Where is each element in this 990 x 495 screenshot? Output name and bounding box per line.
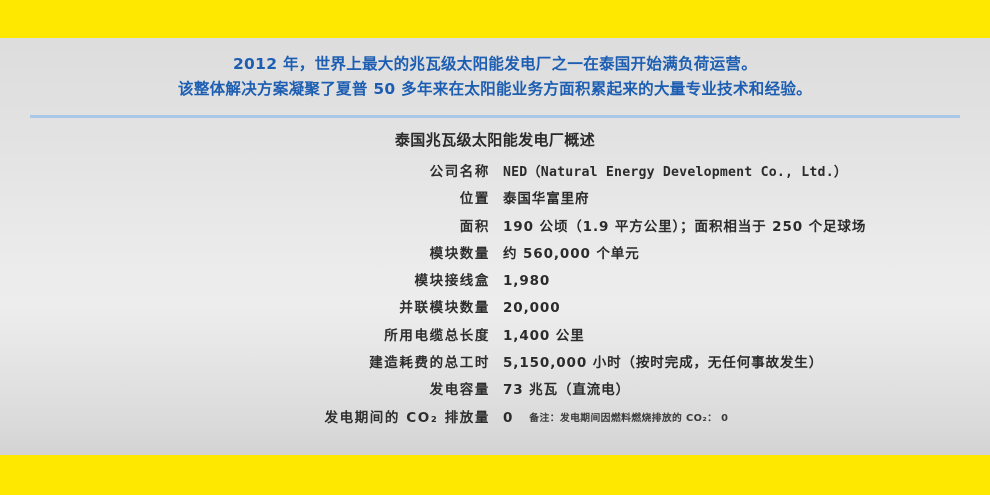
spec-row: 公司名称NED（Natural Energy Development Co., … [0,160,990,187]
spec-row: 发电容量73 兆瓦（直流电） [0,378,990,405]
spec-value: 5,150,000 小时（按时完成，无任何事故发生） [490,351,823,371]
spec-label: 面积 [0,215,490,235]
spec-label: 位置 [0,187,490,207]
spec-value: 0 [490,410,513,426]
spec-row: 面积190 公顷（1.9 平方公里）；面积相当于 250 个足球场 [0,215,990,242]
spec-row: 模块数量约 560,000 个单元 [0,242,990,269]
spec-row: 并联模块数量20,000 [0,296,990,323]
spec-value: 泰国华富里府 [490,187,589,207]
section-divider [30,115,960,118]
spec-value: 1,400 公里 [490,324,585,344]
spec-label: 发电期间的 CO₂ 排放量 [0,406,490,426]
headline-line-1: 2012 年，世界上最大的兆瓦级太阳能发电厂之一在泰国开始满负荷运营。 [0,52,990,77]
spec-table: 公司名称NED（Natural Energy Development Co., … [0,160,990,433]
spec-value: 1,980 [490,273,550,289]
slide-canvas: 2012 年，世界上最大的兆瓦级太阳能发电厂之一在泰国开始满负荷运营。 该整体解… [0,0,990,495]
spec-label: 所用电缆总长度 [0,324,490,344]
spec-row: 建造耗费的总工时5,150,000 小时（按时完成，无任何事故发生） [0,351,990,378]
headline-block: 2012 年，世界上最大的兆瓦级太阳能发电厂之一在泰国开始满负荷运营。 该整体解… [0,52,990,102]
spec-value: 20,000 [490,300,561,316]
spec-value: NED（Natural Energy Development Co., Ltd.… [490,161,847,180]
spec-row: 位置泰国华富里府 [0,187,990,214]
spec-label: 建造耗费的总工时 [0,351,490,371]
spec-row: 模块接线盒1,980 [0,269,990,296]
spec-value: 190 公顷（1.9 平方公里）；面积相当于 250 个足球场 [490,215,866,235]
spec-value: 73 兆瓦（直流电） [490,378,630,398]
top-accent-band [0,0,990,38]
headline-line-2: 该整体解决方案凝聚了夏普 50 多年来在太阳能业务方面积累起来的大量专业技术和经… [0,77,990,102]
spec-label: 模块接线盒 [0,269,490,289]
spec-label: 发电容量 [0,378,490,398]
bottom-accent-band [0,455,990,495]
spec-row: 发电期间的 CO₂ 排放量0备注：发电期间因燃料燃烧排放的 CO₂： 0 [0,406,990,433]
spec-label: 并联模块数量 [0,296,490,316]
spec-row: 所用电缆总长度1,400 公里 [0,324,990,351]
spec-table-title: 泰国兆瓦级太阳能发电厂概述 [0,129,990,150]
spec-label: 公司名称 [0,160,490,180]
spec-value: 约 560,000 个单元 [490,242,640,262]
spec-note: 备注：发电期间因燃料燃烧排放的 CO₂： 0 [513,410,728,424]
spec-label: 模块数量 [0,242,490,262]
